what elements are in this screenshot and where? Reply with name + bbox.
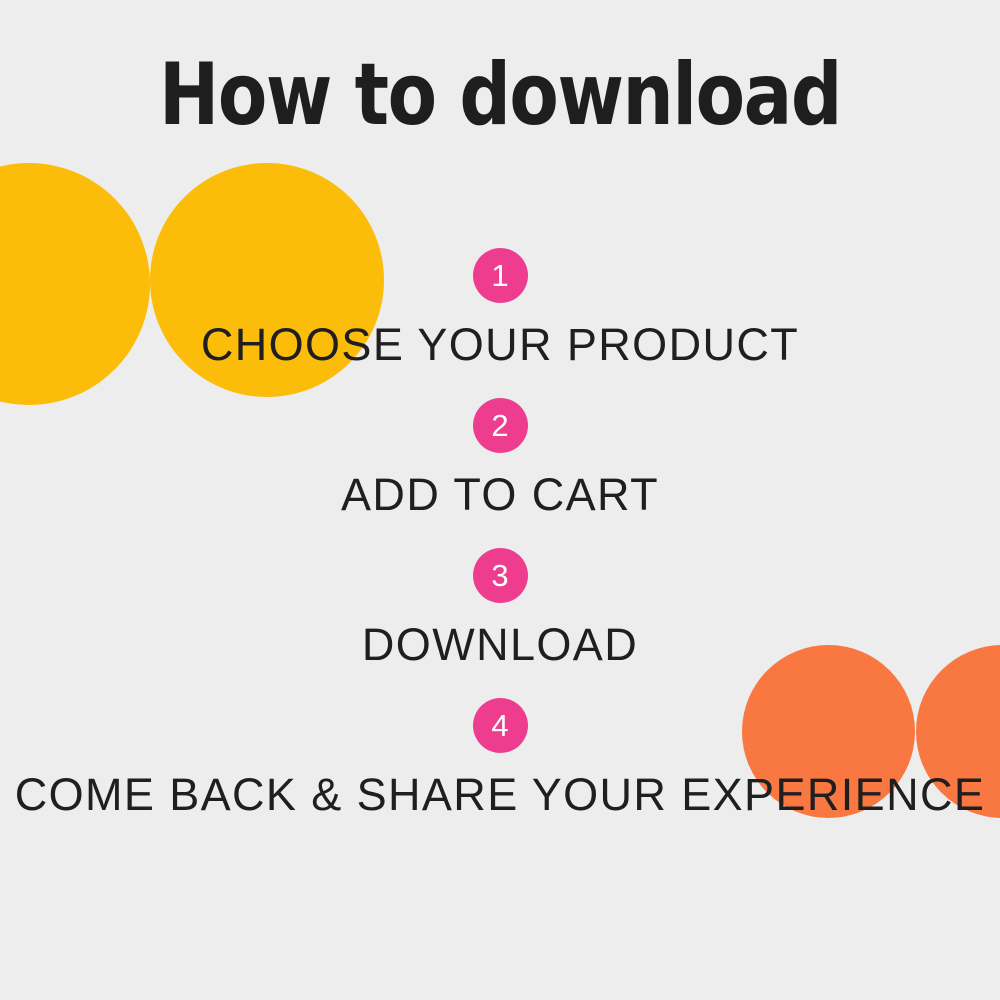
step-number-badge-3: 3 [473,548,528,603]
step-number-badge-2: 2 [473,398,528,453]
steps-list: 1 CHOOSE YOUR PRODUCT 2 ADD TO CART 3 DO… [0,248,1000,821]
step-item-2: 2 ADD TO CART [0,398,1000,521]
step-number-badge-1: 1 [473,248,528,303]
step-label-1: CHOOSE YOUR PRODUCT [0,318,1000,371]
step-label-2: ADD TO CART [0,468,1000,521]
how-to-download-infographic: How to download 1 CHOOSE YOUR PRODUCT 2 … [0,0,1000,1000]
step-item-1: 1 CHOOSE YOUR PRODUCT [0,248,1000,371]
step-number-badge-4: 4 [473,698,528,753]
step-label-4: COME BACK & SHARE YOUR EXPERIENCE [0,768,1000,821]
step-item-3: 3 DOWNLOAD [0,548,1000,671]
step-label-3: DOWNLOAD [0,618,1000,671]
page-title: How to download [35,52,965,138]
step-item-4: 4 COME BACK & SHARE YOUR EXPERIENCE [0,698,1000,821]
